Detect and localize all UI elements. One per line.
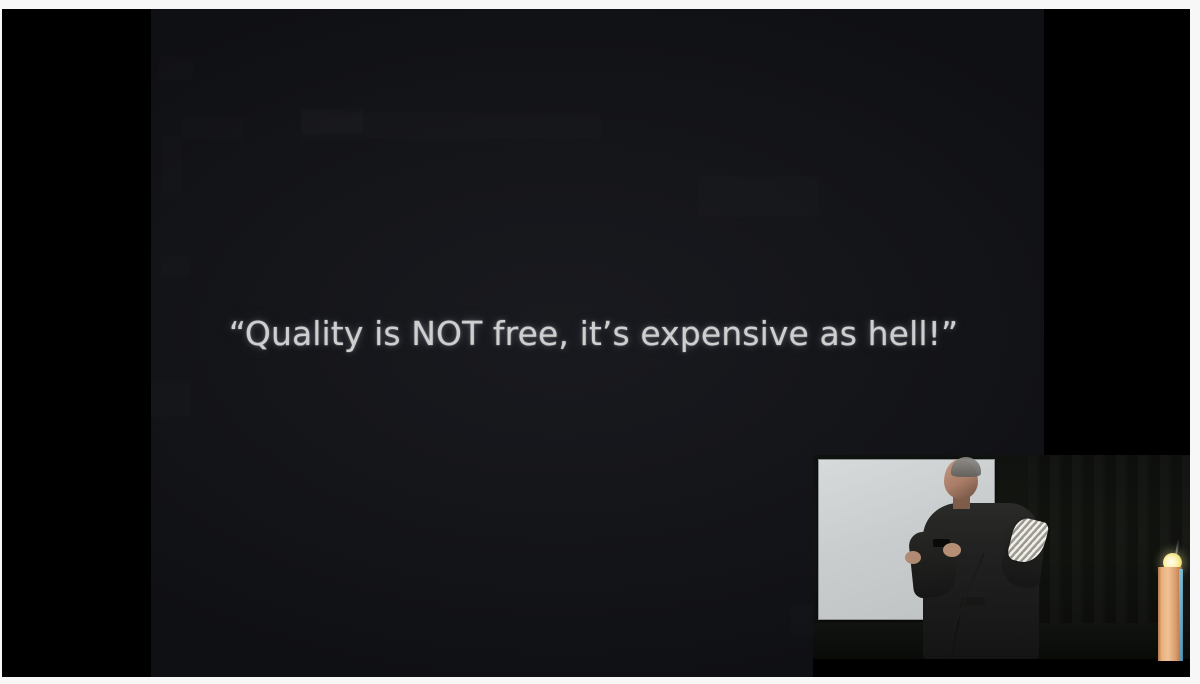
candle-edge-highlight xyxy=(1179,569,1183,661)
pillarbox-left xyxy=(2,9,151,677)
speaker-right-hand xyxy=(943,543,961,557)
pip-letterbox xyxy=(813,659,1190,677)
compression-artifact xyxy=(161,257,189,277)
slide-quote-text: “Quality is NOT free, it’s expensive as … xyxy=(229,314,958,353)
compression-artifact xyxy=(301,113,601,139)
speaker-figure xyxy=(917,457,1049,659)
speaker-hair xyxy=(951,457,981,477)
video-player-surface[interactable]: “Quality is NOT free, it’s expensive as … xyxy=(2,9,1190,677)
compression-artifact xyxy=(151,381,191,417)
speaker-left-hand xyxy=(905,551,921,564)
screenshot-root: “Quality is NOT free, it’s expensive as … xyxy=(0,0,1200,684)
slide-quote-line: “Quality is NOT free, it’s expensive as … xyxy=(151,314,1044,353)
compression-artifact xyxy=(162,137,182,193)
compression-artifact xyxy=(159,57,193,79)
compression-artifact xyxy=(183,117,243,139)
compression-artifact xyxy=(699,177,819,217)
speaker-camera-feed[interactable] xyxy=(813,455,1190,677)
compression-artifact xyxy=(301,109,363,133)
